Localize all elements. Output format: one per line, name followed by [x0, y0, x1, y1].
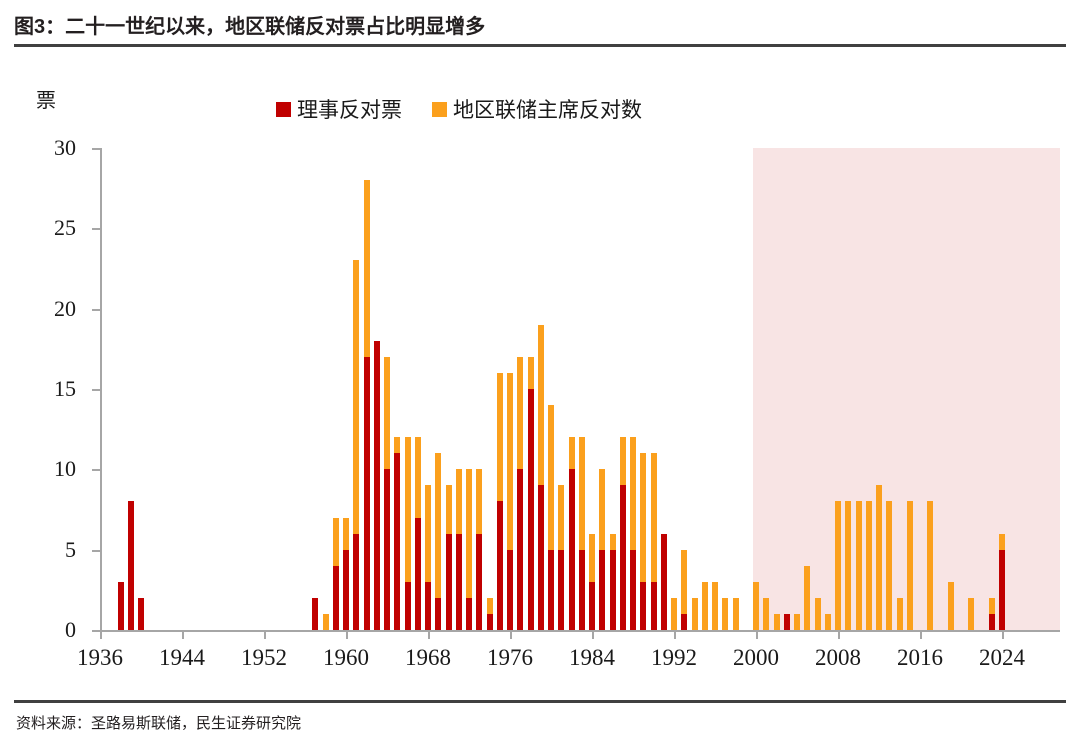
- bar-segment-presidents: [487, 598, 493, 614]
- bar-1940: [138, 598, 144, 630]
- bar-segment-presidents: [763, 598, 769, 630]
- x-tick-label-1992: 1992: [634, 645, 714, 671]
- x-tick-label-1944: 1944: [142, 645, 222, 671]
- bar-segment-presidents: [886, 501, 892, 630]
- bar-segment-governors: [405, 582, 411, 630]
- bar-1982: [569, 437, 575, 630]
- legend-swatch-presidents: [432, 102, 447, 117]
- x-axis-line: [100, 630, 1060, 632]
- bar-segment-governors: [640, 582, 646, 630]
- bar-1989: [640, 453, 646, 630]
- bar-1970: [446, 485, 452, 630]
- footer-divider: [14, 700, 1066, 703]
- bar-segment-presidents: [712, 582, 718, 630]
- y-tick-label-0: 0: [30, 617, 76, 643]
- bar-1976: [507, 373, 513, 630]
- bar-segment-presidents: [722, 598, 728, 630]
- x-tick-label-1960: 1960: [306, 645, 386, 671]
- bar-2005: [804, 566, 810, 630]
- bar-segment-presidents: [804, 566, 810, 630]
- bar-segment-presidents: [897, 598, 903, 630]
- bar-segment-governors: [538, 485, 544, 630]
- bar-segment-governors: [569, 469, 575, 630]
- bar-2015: [907, 501, 913, 630]
- x-tick-label-2008: 2008: [798, 645, 878, 671]
- bar-segment-presidents: [835, 501, 841, 630]
- bar-1966: [405, 437, 411, 630]
- bar-2024: [999, 534, 1005, 630]
- bar-1993: [681, 550, 687, 630]
- bar-segment-governors: [999, 550, 1005, 630]
- x-tick-1944: [182, 630, 184, 639]
- y-tick-10: [92, 469, 101, 471]
- bar-segment-presidents: [497, 373, 503, 502]
- y-tick-25: [92, 228, 101, 230]
- bar-2006: [815, 598, 821, 630]
- bar-1988: [630, 437, 636, 630]
- bar-segment-presidents: [456, 469, 462, 533]
- bar-segment-governors: [681, 614, 687, 630]
- bar-segment-presidents: [517, 357, 523, 469]
- bar-segment-presidents: [948, 582, 954, 630]
- bar-segment-governors: [989, 614, 995, 630]
- bar-1974: [487, 598, 493, 630]
- bar-segment-governors: [476, 534, 482, 630]
- bar-1971: [456, 469, 462, 630]
- legend-label-presidents: 地区联储主席反对数: [453, 94, 642, 124]
- y-tick-label-30: 30: [30, 135, 76, 161]
- bar-segment-presidents: [548, 405, 554, 550]
- y-tick-5: [92, 550, 101, 552]
- chart-page: 图3：二十一世纪以来，地区联储反对票占比明显增多 票 理事反对票 地区联储主席反…: [0, 0, 1080, 750]
- x-tick-2000: [756, 630, 758, 639]
- x-tick-label-2016: 2016: [880, 645, 960, 671]
- bar-segment-governors: [487, 614, 493, 630]
- bar-2000: [753, 582, 759, 630]
- bar-segment-governors: [548, 550, 554, 630]
- bar-1959: [333, 518, 339, 630]
- title-divider: [14, 44, 1066, 47]
- bar-1963: [374, 341, 380, 630]
- bar-segment-presidents: [569, 437, 575, 469]
- x-tick-1992: [674, 630, 676, 639]
- bar-segment-governors: [456, 534, 462, 630]
- bar-1979: [538, 325, 544, 630]
- bar-2014: [897, 598, 903, 630]
- bar-1995: [702, 582, 708, 630]
- bar-1975: [497, 373, 503, 630]
- bar-1985: [599, 469, 605, 630]
- bar-segment-governors: [446, 534, 452, 630]
- y-tick-label-5: 5: [30, 537, 76, 563]
- bar-segment-governors: [651, 582, 657, 630]
- bar-1939: [128, 501, 134, 630]
- bar-1957: [312, 598, 318, 630]
- bar-segment-presidents: [415, 437, 421, 517]
- y-tick-30: [92, 148, 101, 150]
- bar-segment-presidents: [384, 357, 390, 469]
- bar-segment-presidents: [589, 534, 595, 582]
- bar-2012: [876, 485, 882, 630]
- x-tick-2024: [1002, 630, 1004, 639]
- bar-1987: [620, 437, 626, 630]
- bar-segment-governors: [435, 598, 441, 630]
- bar-2002: [774, 614, 780, 630]
- bar-segment-presidents: [753, 582, 759, 630]
- bar-2010: [856, 501, 862, 630]
- bar-segment-presidents: [528, 357, 534, 389]
- bar-2007: [825, 614, 831, 630]
- bar-segment-presidents: [794, 614, 800, 630]
- bar-1998: [733, 598, 739, 630]
- x-tick-1960: [346, 630, 348, 639]
- bar-1992: [671, 598, 677, 630]
- bar-segment-presidents: [651, 453, 657, 582]
- bar-segment-presidents: [364, 180, 370, 357]
- bar-segment-presidents: [405, 437, 411, 582]
- bar-segment-governors: [364, 357, 370, 630]
- bar-2004: [794, 614, 800, 630]
- bar-segment-presidents: [640, 453, 646, 582]
- bar-segment-presidents: [558, 485, 564, 549]
- y-tick-label-10: 10: [30, 456, 76, 482]
- bar-segment-presidents: [435, 453, 441, 598]
- bar-segment-presidents: [323, 614, 329, 630]
- bar-segment-governors: [343, 550, 349, 630]
- bar-2013: [886, 501, 892, 630]
- bar-segment-presidents: [476, 469, 482, 533]
- x-tick-1968: [428, 630, 430, 639]
- x-tick-label-2000: 2000: [716, 645, 796, 671]
- bar-2023: [989, 598, 995, 630]
- bar-segment-governors: [589, 582, 595, 630]
- x-tick-2008: [838, 630, 840, 639]
- bar-segment-presidents: [353, 260, 359, 533]
- bar-2011: [866, 501, 872, 630]
- x-tick-1936: [100, 630, 102, 639]
- bar-segment-presidents: [620, 437, 626, 485]
- bar-segment-governors: [466, 598, 472, 630]
- bar-segment-presidents: [815, 598, 821, 630]
- bar-segment-presidents: [507, 373, 513, 550]
- bar-segment-governors: [630, 550, 636, 630]
- bar-segment-governors: [128, 501, 134, 630]
- bar-1991: [661, 534, 667, 630]
- y-tick-label-25: 25: [30, 215, 76, 241]
- plot-area: [100, 148, 1060, 630]
- bar-segment-presidents: [825, 614, 831, 630]
- x-tick-label-1976: 1976: [470, 645, 550, 671]
- bar-1967: [415, 437, 421, 630]
- bar-1994: [692, 598, 698, 630]
- bar-1978: [528, 357, 534, 630]
- bar-segment-governors: [610, 550, 616, 630]
- x-tick-label-1936: 1936: [60, 645, 140, 671]
- bar-segment-presidents: [999, 534, 1005, 550]
- y-tick-15: [92, 389, 101, 391]
- bar-segment-governors: [661, 534, 667, 630]
- bar-1997: [722, 598, 728, 630]
- bar-segment-presidents: [394, 437, 400, 453]
- bar-segment-presidents: [907, 501, 913, 630]
- bar-segment-governors: [528, 389, 534, 630]
- bar-segment-governors: [517, 469, 523, 630]
- bar-segment-presidents: [702, 582, 708, 630]
- bar-segment-presidents: [845, 501, 851, 630]
- bar-segment-governors: [384, 469, 390, 630]
- bar-segment-presidents: [610, 534, 616, 550]
- bar-1960: [343, 518, 349, 630]
- bar-segment-governors: [784, 614, 790, 630]
- bar-1986: [610, 534, 616, 630]
- legend-swatch-governors: [276, 102, 291, 117]
- bar-segment-presidents: [927, 501, 933, 630]
- bar-1973: [476, 469, 482, 630]
- bar-segment-presidents: [989, 598, 995, 614]
- bar-segment-governors: [425, 582, 431, 630]
- bar-1962: [364, 180, 370, 630]
- x-tick-2016: [920, 630, 922, 639]
- bar-segment-governors: [138, 598, 144, 630]
- bar-1996: [712, 582, 718, 630]
- bar-segment-governors: [333, 566, 339, 630]
- y-axis-unit-label: 票: [36, 84, 56, 113]
- bar-segment-governors: [394, 453, 400, 630]
- bar-segment-governors: [558, 550, 564, 630]
- bar-segment-governors: [497, 501, 503, 630]
- x-tick-1984: [592, 630, 594, 639]
- legend-item-governors: 理事反对票: [276, 94, 402, 124]
- x-tick-label-2024: 2024: [962, 645, 1042, 671]
- bar-segment-presidents: [425, 485, 431, 581]
- chart-title-row: 图3：二十一世纪以来，地区联储反对票占比明显增多: [14, 10, 1066, 39]
- bar-segment-presidents: [630, 437, 636, 549]
- bar-1961: [353, 260, 359, 630]
- x-tick-label-1984: 1984: [552, 645, 632, 671]
- legend-label-governors: 理事反对票: [297, 94, 402, 124]
- bar-segment-presidents: [466, 469, 472, 598]
- bar-segment-governors: [353, 534, 359, 630]
- bar-segment-presidents: [876, 485, 882, 630]
- bar-1958: [323, 614, 329, 630]
- source-note: 资料来源：圣路易斯联储，民生证券研究院: [16, 712, 301, 733]
- bar-1977: [517, 357, 523, 630]
- bar-1965: [394, 437, 400, 630]
- bar-2001: [763, 598, 769, 630]
- bar-segment-presidents: [343, 518, 349, 550]
- y-tick-20: [92, 309, 101, 311]
- bar-segment-governors: [507, 550, 513, 630]
- bar-segment-governors: [579, 550, 585, 630]
- bar-2008: [835, 501, 841, 630]
- bar-segment-governors: [118, 582, 124, 630]
- chart-legend: 理事反对票 地区联储主席反对数: [276, 94, 642, 124]
- bar-segment-governors: [415, 518, 421, 630]
- bar-segment-governors: [620, 485, 626, 630]
- bar-segment-presidents: [866, 501, 872, 630]
- bar-segment-presidents: [681, 550, 687, 614]
- x-tick-1976: [510, 630, 512, 639]
- bar-segment-presidents: [692, 598, 698, 630]
- bar-segment-presidents: [333, 518, 339, 566]
- bar-2021: [968, 598, 974, 630]
- bar-segment-presidents: [856, 501, 862, 630]
- bar-2009: [845, 501, 851, 630]
- x-tick-1952: [264, 630, 266, 639]
- bar-segment-governors: [599, 550, 605, 630]
- bar-segment-presidents: [538, 325, 544, 486]
- bar-2017: [927, 501, 933, 630]
- bar-segment-presidents: [599, 469, 605, 549]
- bar-segment-presidents: [733, 598, 739, 630]
- bar-1964: [384, 357, 390, 630]
- bar-1980: [548, 405, 554, 630]
- bar-segment-presidents: [446, 485, 452, 533]
- bar-2019: [948, 582, 954, 630]
- y-tick-label-20: 20: [30, 296, 76, 322]
- bar-segment-governors: [312, 598, 318, 630]
- bar-1972: [466, 469, 472, 630]
- bar-2003: [784, 614, 790, 630]
- bar-1938: [118, 582, 124, 630]
- bar-1984: [589, 534, 595, 630]
- bar-1969: [435, 453, 441, 630]
- bar-segment-presidents: [579, 437, 585, 549]
- bar-1990: [651, 453, 657, 630]
- bar-segment-presidents: [774, 614, 780, 630]
- x-tick-label-1968: 1968: [388, 645, 468, 671]
- legend-item-presidents: 地区联储主席反对数: [432, 94, 642, 124]
- bar-segment-presidents: [671, 598, 677, 630]
- bar-segment-presidents: [968, 598, 974, 630]
- bar-1983: [579, 437, 585, 630]
- bar-segment-governors: [374, 341, 380, 630]
- y-tick-label-15: 15: [30, 376, 76, 402]
- x-tick-label-1952: 1952: [224, 645, 304, 671]
- bar-1968: [425, 485, 431, 630]
- page-title: 图3：二十一世纪以来，地区联储反对票占比明显增多: [14, 10, 485, 39]
- bar-1981: [558, 485, 564, 630]
